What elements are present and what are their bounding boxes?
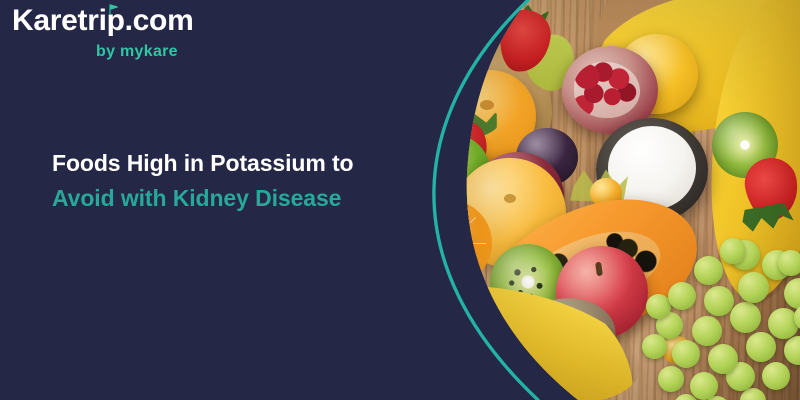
karetrip-flag-icon <box>109 4 118 15</box>
potassium-foods-banner: Karetrip.com by mykare Foods High in Pot… <box>0 0 800 400</box>
grape <box>730 302 761 333</box>
grape <box>708 344 738 374</box>
grape <box>690 372 718 400</box>
grape <box>746 332 776 362</box>
grape <box>738 272 769 303</box>
grape <box>778 250 800 276</box>
brand-name: Karetrip.com <box>12 6 193 36</box>
grape <box>642 334 667 359</box>
headline-line-1: Foods High in Potassium to <box>52 146 452 181</box>
fruit-photo <box>420 0 800 400</box>
brand-tagline: by mykare <box>96 44 178 60</box>
grape <box>762 362 790 390</box>
grape <box>658 366 684 392</box>
fruit-photo-clip <box>420 0 800 400</box>
text-panel: Karetrip.com by mykare Foods High in Pot… <box>0 0 470 400</box>
brand-logo[interactable]: Karetrip.com by mykare <box>12 6 222 66</box>
grape <box>694 256 723 285</box>
photo-vignette <box>420 0 800 400</box>
grape <box>704 286 734 316</box>
grape <box>672 340 700 368</box>
grape <box>720 238 746 264</box>
page-title: Foods High in Potassium to Avoid with Ki… <box>52 146 452 216</box>
grape <box>668 282 696 310</box>
grape <box>692 316 722 346</box>
headline-line-2: Avoid with Kidney Disease <box>52 181 452 216</box>
